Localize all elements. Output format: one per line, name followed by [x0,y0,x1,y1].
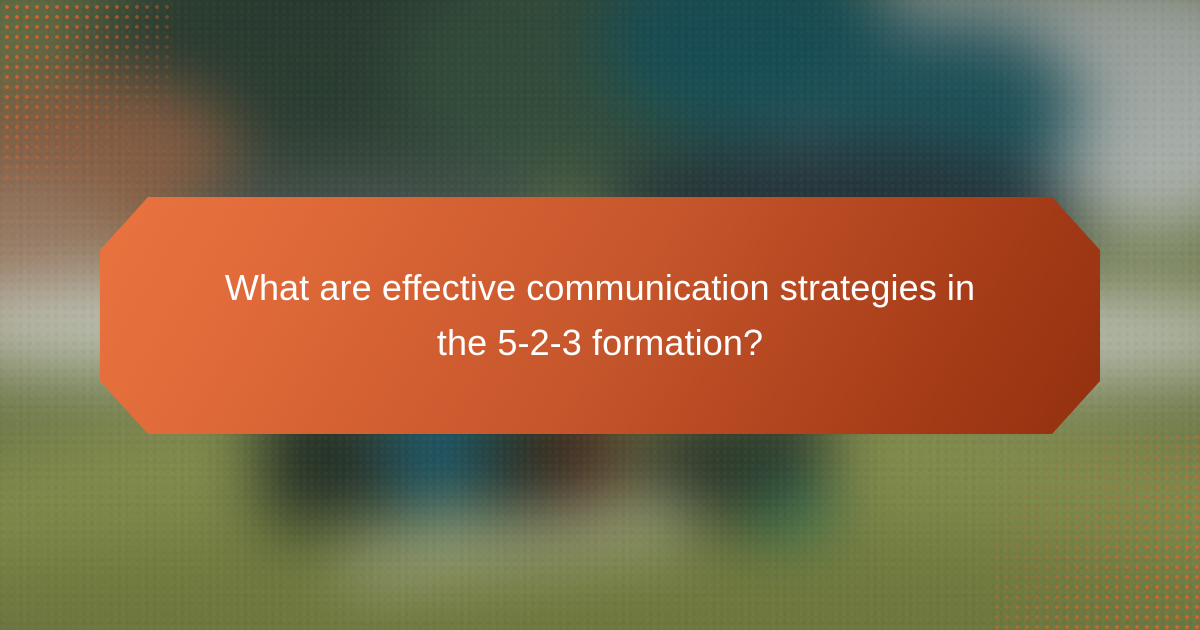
tree-teal-blob [600,0,900,140]
social-card: What are effective communication strateg… [0,0,1200,630]
pitch-line-blob [339,495,701,585]
sky-blob [720,0,1200,190]
player-boot-blob [760,490,820,530]
tree-canopy-blob-2 [390,0,790,190]
sky-blob-right [1010,0,1200,230]
halftone-dots-top-left [0,0,170,180]
tree-canopy-blob [80,0,600,210]
headline-text: What are effective communication strateg… [200,261,1000,370]
halftone-dots-bottom-right [990,430,1200,630]
headline-banner: What are effective communication strateg… [100,197,1100,434]
tree-teal-blob-2 [820,20,1080,200]
grass-blob-dark [0,520,1200,630]
